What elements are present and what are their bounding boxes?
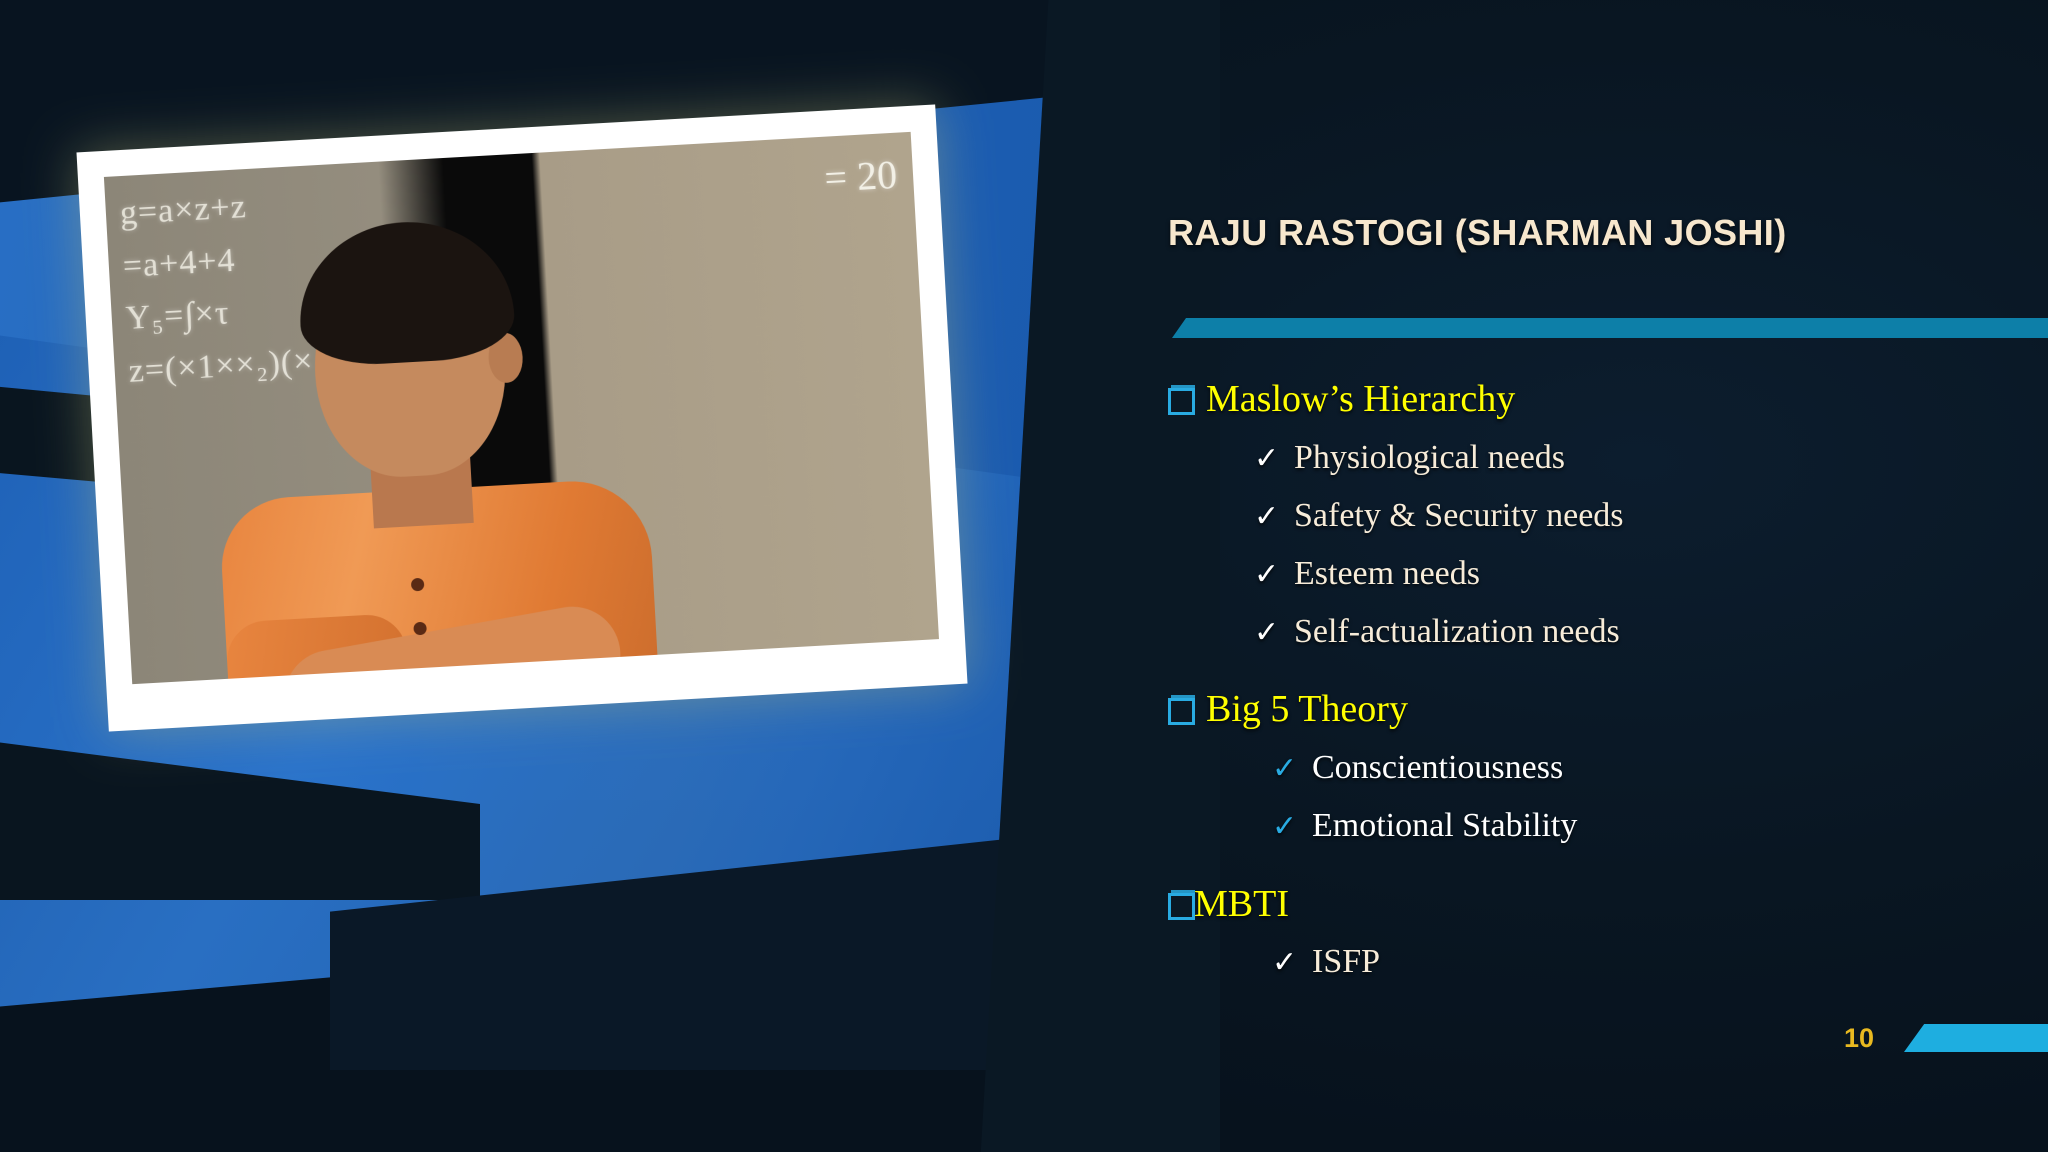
- check-icon: ✓: [1272, 807, 1302, 846]
- group-heading-big5[interactable]: Big 5 Theory: [1168, 688, 2048, 732]
- group-heading-label: Big 5 Theory: [1206, 688, 1408, 732]
- check-icon: ✓: [1254, 439, 1284, 478]
- list-item[interactable]: ✓ Esteem needs: [1168, 552, 2048, 596]
- content-group-mbti: MBTI ✓ ISFP: [1168, 883, 2048, 985]
- list-item[interactable]: ✓ Emotional Stability: [1168, 804, 2048, 848]
- check-icon: ✓: [1254, 497, 1284, 536]
- check-icon: ✓: [1254, 555, 1284, 594]
- content-list: Maslow’s Hierarchy ✓ Physiological needs…: [1168, 378, 2048, 984]
- check-icon: ✓: [1272, 943, 1302, 982]
- list-item-label: Esteem needs: [1294, 552, 1480, 596]
- list-item-label: ISFP: [1312, 940, 1380, 984]
- list-item-label: Safety & Security needs: [1294, 494, 1624, 538]
- list-item-label: Physiological needs: [1294, 436, 1565, 480]
- content-group-big5: Big 5 Theory ✓ Conscientiousness ✓ Emoti…: [1168, 688, 2048, 848]
- check-icon: ✓: [1272, 749, 1302, 788]
- list-item-label: Conscientiousness: [1312, 746, 1563, 790]
- photo-frame: g=a×z+z =a+4+4 Y₅=∫×τ z=(×1××₂)(× = 20: [76, 104, 967, 731]
- chalk-equation-right: = 20: [823, 151, 898, 202]
- page-number: 10: [1844, 1023, 1874, 1054]
- list-item[interactable]: ✓ Physiological needs: [1168, 436, 2048, 480]
- content-group-maslow: Maslow’s Hierarchy ✓ Physiological needs…: [1168, 378, 2048, 654]
- square-outline-icon: [1168, 890, 1192, 914]
- group-heading-mbti[interactable]: MBTI: [1168, 883, 2048, 927]
- list-item-label: Self-actualization needs: [1294, 610, 1620, 654]
- check-icon: ✓: [1254, 613, 1284, 652]
- group-heading-label: Maslow’s Hierarchy: [1206, 378, 1515, 422]
- list-item[interactable]: ✓ Conscientiousness: [1168, 746, 2048, 790]
- list-item[interactable]: ✓ Self-actualization needs: [1168, 610, 2048, 654]
- title-underline-accent: [1172, 318, 2048, 338]
- group-heading-label: MBTI: [1194, 883, 1289, 927]
- group-heading-maslow[interactable]: Maslow’s Hierarchy: [1168, 378, 2048, 422]
- list-item-label: Emotional Stability: [1312, 804, 1577, 848]
- character-photo: g=a×z+z =a+4+4 Y₅=∫×τ z=(×1××₂)(× = 20: [76, 104, 967, 731]
- list-item[interactable]: ✓ ISFP: [1168, 940, 2048, 984]
- page-number-accent-bar: [1904, 1024, 2048, 1052]
- presentation-slide: g=a×z+z =a+4+4 Y₅=∫×τ z=(×1××₂)(× = 20 R…: [0, 0, 2048, 1152]
- square-outline-icon: [1168, 695, 1192, 719]
- list-item[interactable]: ✓ Safety & Security needs: [1168, 494, 2048, 538]
- square-outline-icon: [1168, 385, 1192, 409]
- photo-image: g=a×z+z =a+4+4 Y₅=∫×τ z=(×1××₂)(× = 20: [104, 132, 939, 684]
- slide-title: RAJU RASTOGI (SHARMAN JOSHI): [1168, 212, 1787, 254]
